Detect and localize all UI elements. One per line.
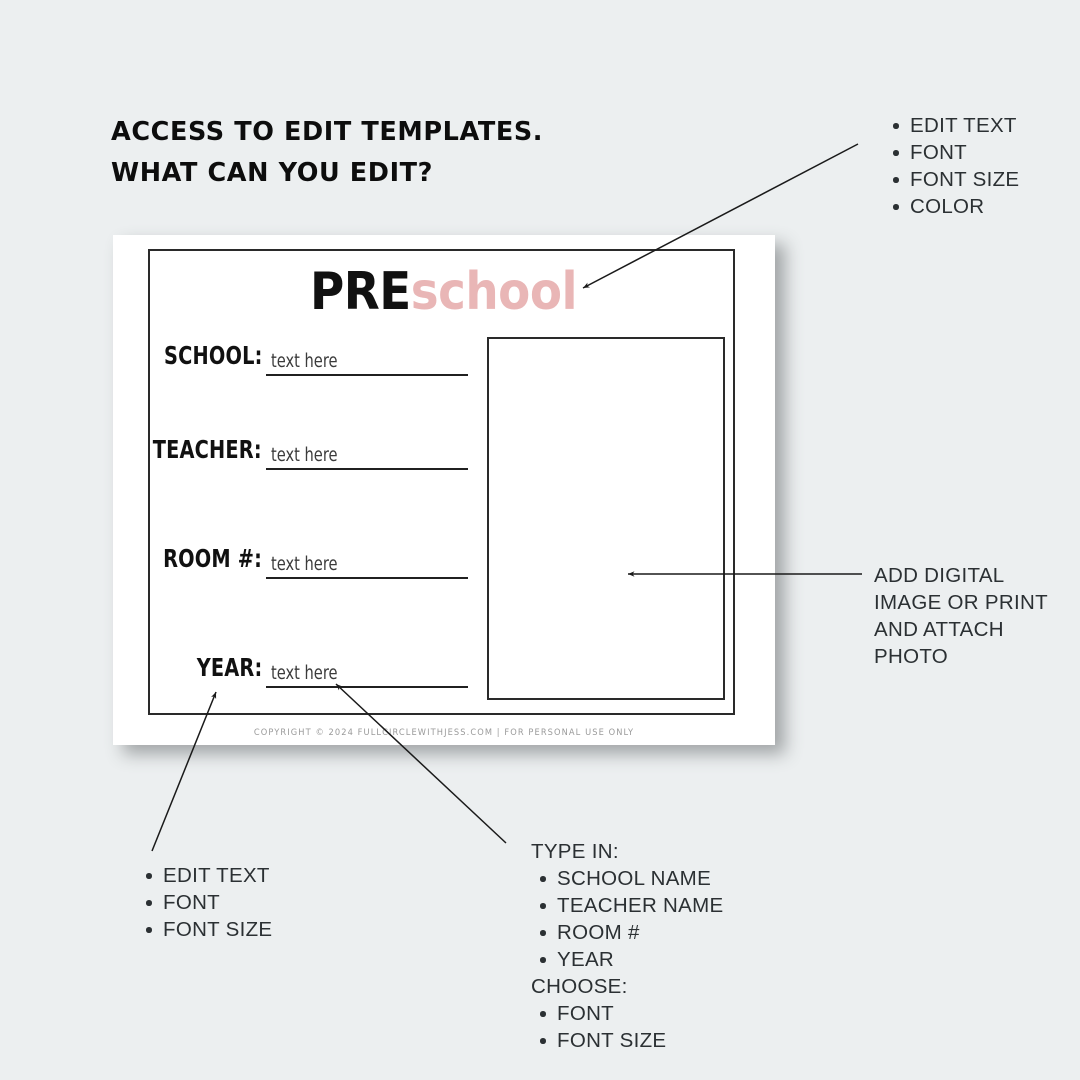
list-item: SCHOOL NAME [557,865,723,892]
list-item: FONT SIZE [557,1027,723,1054]
field-year-label: YEAR: [196,653,262,682]
annotation-right: ADD DIGITAL IMAGE OR PRINT AND ATTACH PH… [874,562,1074,670]
template-card-border: PREschool SCHOOL: text here TEACHER: tex… [148,249,735,715]
template-card: PREschool SCHOOL: text here TEACHER: tex… [113,235,775,745]
poster-canvas: ACCESS TO EDIT TEMPLATES. WHAT CAN YOU E… [0,0,1080,1080]
field-teacher-underline [266,468,468,470]
field-room-label: ROOM #: [163,544,262,573]
field-teacher-placeholder[interactable]: text here [271,445,338,466]
field-year[interactable]: YEAR: text here [150,648,480,688]
field-room-underline [266,577,468,579]
list-item: EDIT TEXT [163,862,272,889]
choose-label: CHOOSE: [531,973,723,1000]
annotation-top-right: EDIT TEXT FONT FONT SIZE COLOR [884,112,1019,220]
list-item: FONT [163,889,272,916]
annotation-bottom-left: EDIT TEXT FONT FONT SIZE [137,862,272,943]
field-school-label: SCHOOL: [164,341,262,370]
page-title-line-2: WHAT CAN YOU EDIT? [111,153,671,194]
page-title: ACCESS TO EDIT TEMPLATES. WHAT CAN YOU E… [111,112,671,194]
field-school-underline [266,374,468,376]
photo-placeholder-box[interactable] [487,337,725,700]
field-school-placeholder[interactable]: text here [271,351,338,372]
list-item: FONT SIZE [910,166,1019,193]
field-teacher[interactable]: TEACHER: text here [150,430,480,470]
copyright-notice: COPYRIGHT © 2024 FULLCIRCLEWITHJESS.COM … [113,727,775,738]
annotation-bottom-left-list: EDIT TEXT FONT FONT SIZE [137,862,272,943]
field-year-underline [266,686,468,688]
list-item: YEAR [557,946,723,973]
type-in-list: SCHOOL NAME TEACHER NAME ROOM # YEAR [531,865,723,973]
field-teacher-label: TEACHER: [153,435,262,464]
annotation-right-text: ADD DIGITAL IMAGE OR PRINT AND ATTACH PH… [874,562,1074,670]
annotation-bottom-center: TYPE IN: SCHOOL NAME TEACHER NAME ROOM #… [531,838,723,1054]
type-in-label: TYPE IN: [531,838,723,865]
field-room-placeholder[interactable]: text here [271,554,338,575]
list-item: EDIT TEXT [910,112,1019,139]
field-year-placeholder[interactable]: text here [271,663,338,684]
template-brand-title: PREschool [150,263,737,321]
list-item: TEACHER NAME [557,892,723,919]
list-item: COLOR [910,193,1019,220]
annotation-top-right-list: EDIT TEXT FONT FONT SIZE COLOR [884,112,1019,220]
brand-part-school: school [411,262,577,322]
list-item: FONT SIZE [163,916,272,943]
field-school[interactable]: SCHOOL: text here [150,336,480,376]
choose-list: FONT FONT SIZE [531,1000,723,1054]
list-item: ROOM # [557,919,723,946]
list-item: FONT [557,1000,723,1027]
brand-part-pre: PRE [310,262,411,322]
field-room[interactable]: ROOM #: text here [150,539,480,579]
page-title-line-1: ACCESS TO EDIT TEMPLATES. [111,117,543,147]
list-item: FONT [910,139,1019,166]
